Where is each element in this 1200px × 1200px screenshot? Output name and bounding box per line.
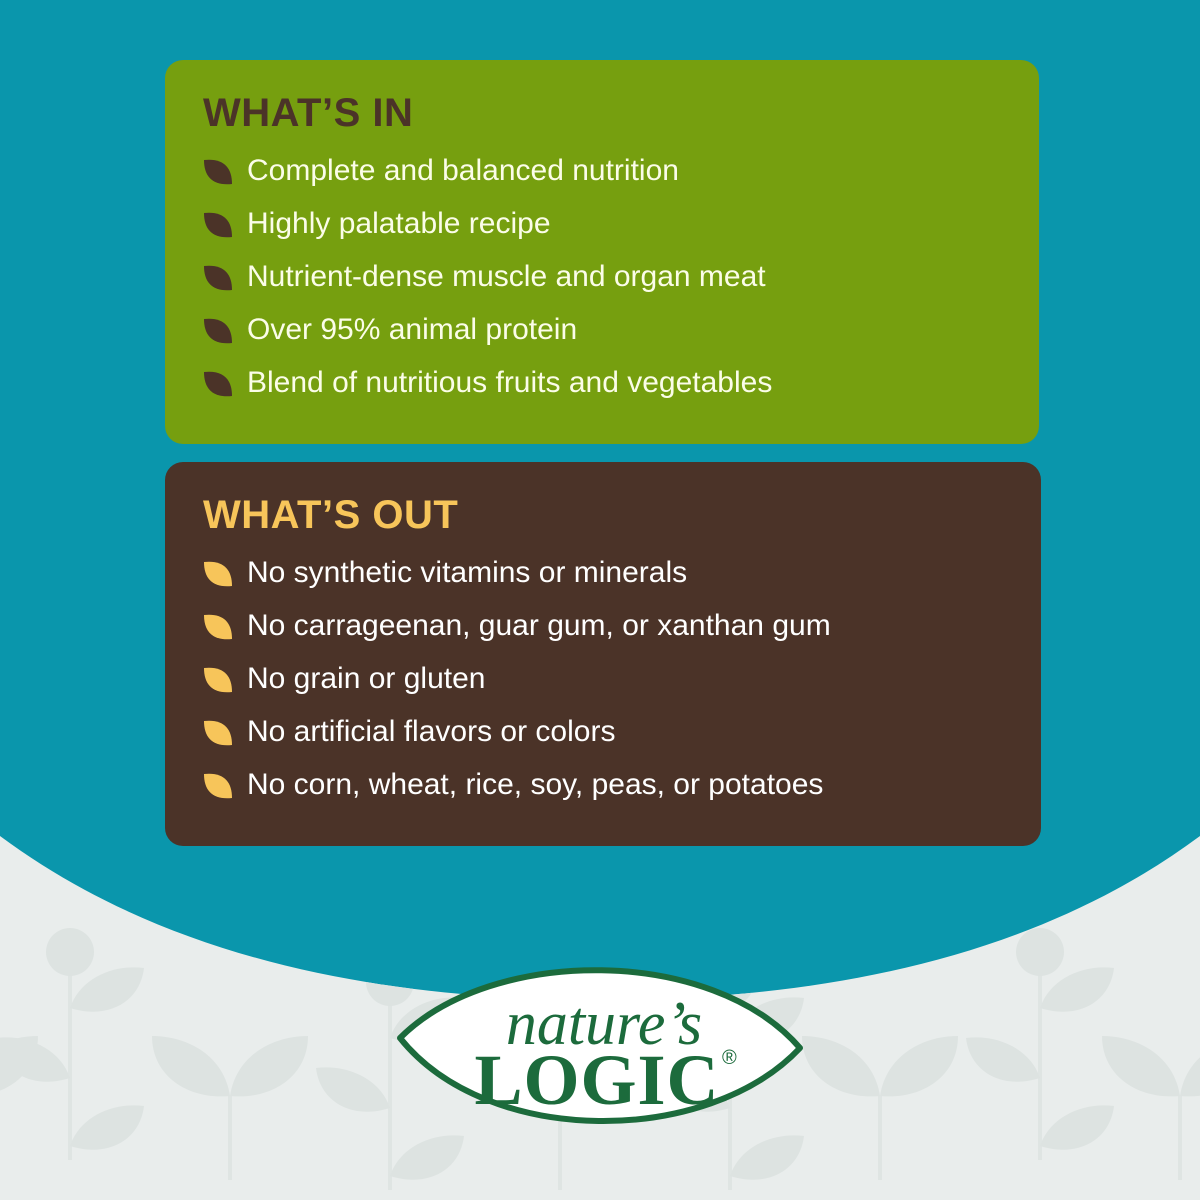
whats-in-panel: WHAT’S IN Complete and balanced nutritio…	[165, 60, 1039, 444]
list-item-label: No grain or gluten	[247, 662, 485, 695]
leaf-icon	[201, 665, 235, 695]
leaf-icon	[201, 157, 235, 187]
leaf-icon	[201, 612, 235, 642]
whats-out-panel: WHAT’S OUT No synthetic vitamins or mine…	[165, 462, 1041, 846]
whats-out-list: No synthetic vitamins or minerals No car…	[201, 546, 1007, 811]
list-item: Complete and balanced nutrition	[201, 144, 1005, 197]
natures-logic-logo: nature’s LOGIC ®	[392, 952, 808, 1148]
whats-in-title: WHAT’S IN	[203, 90, 1005, 136]
list-item: No artificial flavors or colors	[201, 705, 1007, 758]
list-item-label: Over 95% animal protein	[247, 313, 577, 346]
list-item-label: No corn, wheat, rice, soy, peas, or pota…	[247, 768, 823, 801]
list-item-label: Blend of nutritious fruits and vegetable…	[247, 366, 772, 399]
list-item: Over 95% animal protein	[201, 303, 1005, 356]
leaf-icon	[201, 316, 235, 346]
leaf-icon	[201, 263, 235, 293]
list-item: Highly palatable recipe	[201, 197, 1005, 250]
logo-wordmark-text: LOGIC	[474, 1040, 719, 1120]
leaf-icon	[201, 210, 235, 240]
list-item-label: Complete and balanced nutrition	[247, 154, 679, 187]
list-item: No carrageenan, guar gum, or xanthan gum	[201, 599, 1007, 652]
list-item: No corn, wheat, rice, soy, peas, or pota…	[201, 758, 1007, 811]
whats-out-title: WHAT’S OUT	[203, 492, 1007, 538]
list-item: No synthetic vitamins or minerals	[201, 546, 1007, 599]
registered-trademark-icon: ®	[722, 1047, 737, 1069]
leaf-icon	[201, 369, 235, 399]
list-item-label: Highly palatable recipe	[247, 207, 551, 240]
list-item-label: No carrageenan, guar gum, or xanthan gum	[247, 609, 831, 642]
leaf-icon	[201, 718, 235, 748]
list-item: No grain or gluten	[201, 652, 1007, 705]
list-item: Nutrient-dense muscle and organ meat	[201, 250, 1005, 303]
list-item-label: No synthetic vitamins or minerals	[247, 556, 687, 589]
list-item-label: Nutrient-dense muscle and organ meat	[247, 260, 766, 293]
list-item-label: No artificial flavors or colors	[247, 715, 615, 748]
whats-in-list: Complete and balanced nutrition Highly p…	[201, 144, 1005, 409]
list-item: Blend of nutritious fruits and vegetable…	[201, 356, 1005, 409]
leaf-icon	[201, 559, 235, 589]
promo-graphic: WHAT’S IN Complete and balanced nutritio…	[0, 0, 1200, 1200]
leaf-icon	[201, 771, 235, 801]
